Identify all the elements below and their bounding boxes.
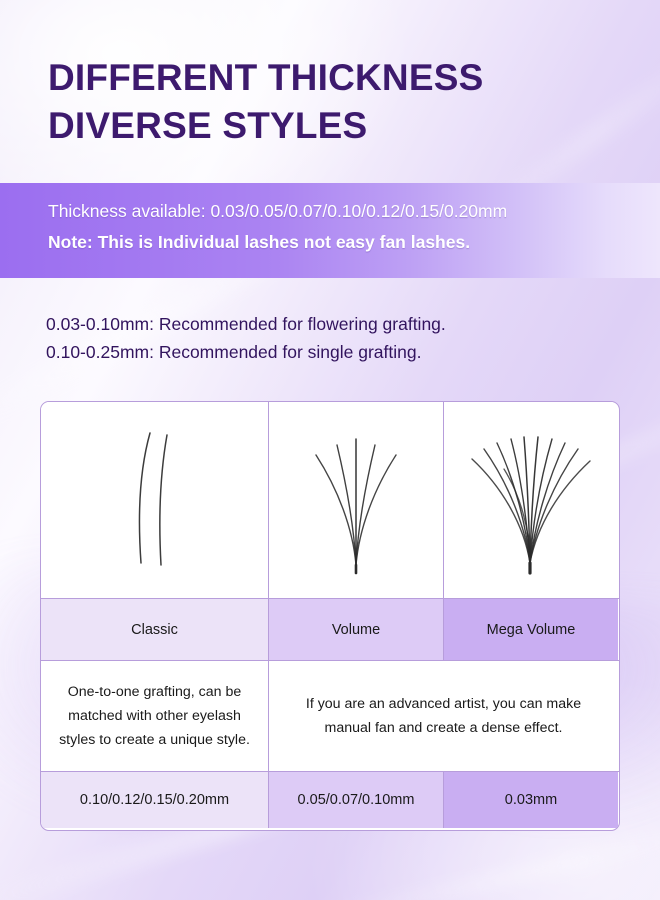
style-label-volume: Volume <box>269 599 444 660</box>
thickness-available-text: Thickness available: 0.03/0.05/0.07/0.10… <box>48 196 660 227</box>
thickness-mega-volume: 0.03mm <box>444 772 618 828</box>
lash-style-comparison-table: Classic Volume Mega Volume One-to-one gr… <box>40 401 620 831</box>
style-label-mega-volume: Mega Volume <box>444 599 618 660</box>
thickness-volume: 0.05/0.07/0.10mm <box>269 772 444 828</box>
description-classic: One-to-one grafting, can be matched with… <box>41 661 269 771</box>
table-row-thickness-values: 0.10/0.12/0.15/0.20mm 0.05/0.07/0.10mm 0… <box>41 772 619 828</box>
table-row-style-labels: Classic Volume Mega Volume <box>41 599 619 661</box>
cell-mega-volume-illustration <box>444 402 618 598</box>
product-info-page: DIFFERENT THICKNESS DIVERSE STYLES Thick… <box>0 0 660 900</box>
cell-volume-illustration <box>269 402 444 598</box>
banner-note-text: Note: This is Individual lashes not easy… <box>48 227 660 258</box>
table-row-illustrations <box>41 402 619 599</box>
cell-classic-illustration <box>41 402 269 598</box>
table-row-descriptions: One-to-one grafting, can be matched with… <box>41 661 619 772</box>
thickness-classic: 0.10/0.12/0.15/0.20mm <box>41 772 269 828</box>
classic-lash-illustration <box>41 402 268 598</box>
thickness-banner: Thickness available: 0.03/0.05/0.07/0.10… <box>0 183 660 278</box>
page-title: DIFFERENT THICKNESS DIVERSE STYLES <box>48 54 628 150</box>
description-volume-mega: If you are an advanced artist, you can m… <box>269 661 618 771</box>
volume-fan-illustration <box>269 402 443 598</box>
style-label-classic: Classic <box>41 599 269 660</box>
recommendation-list: 0.03-0.10mm: Recommended for flowering g… <box>46 310 626 366</box>
mega-volume-fan-illustration <box>444 402 618 598</box>
page-title-line-1: DIFFERENT THICKNESS <box>48 54 628 102</box>
recommendation-line-1: 0.03-0.10mm: Recommended for flowering g… <box>46 310 626 338</box>
recommendation-line-2: 0.10-0.25mm: Recommended for single graf… <box>46 338 626 366</box>
page-title-line-2: DIVERSE STYLES <box>48 102 628 150</box>
